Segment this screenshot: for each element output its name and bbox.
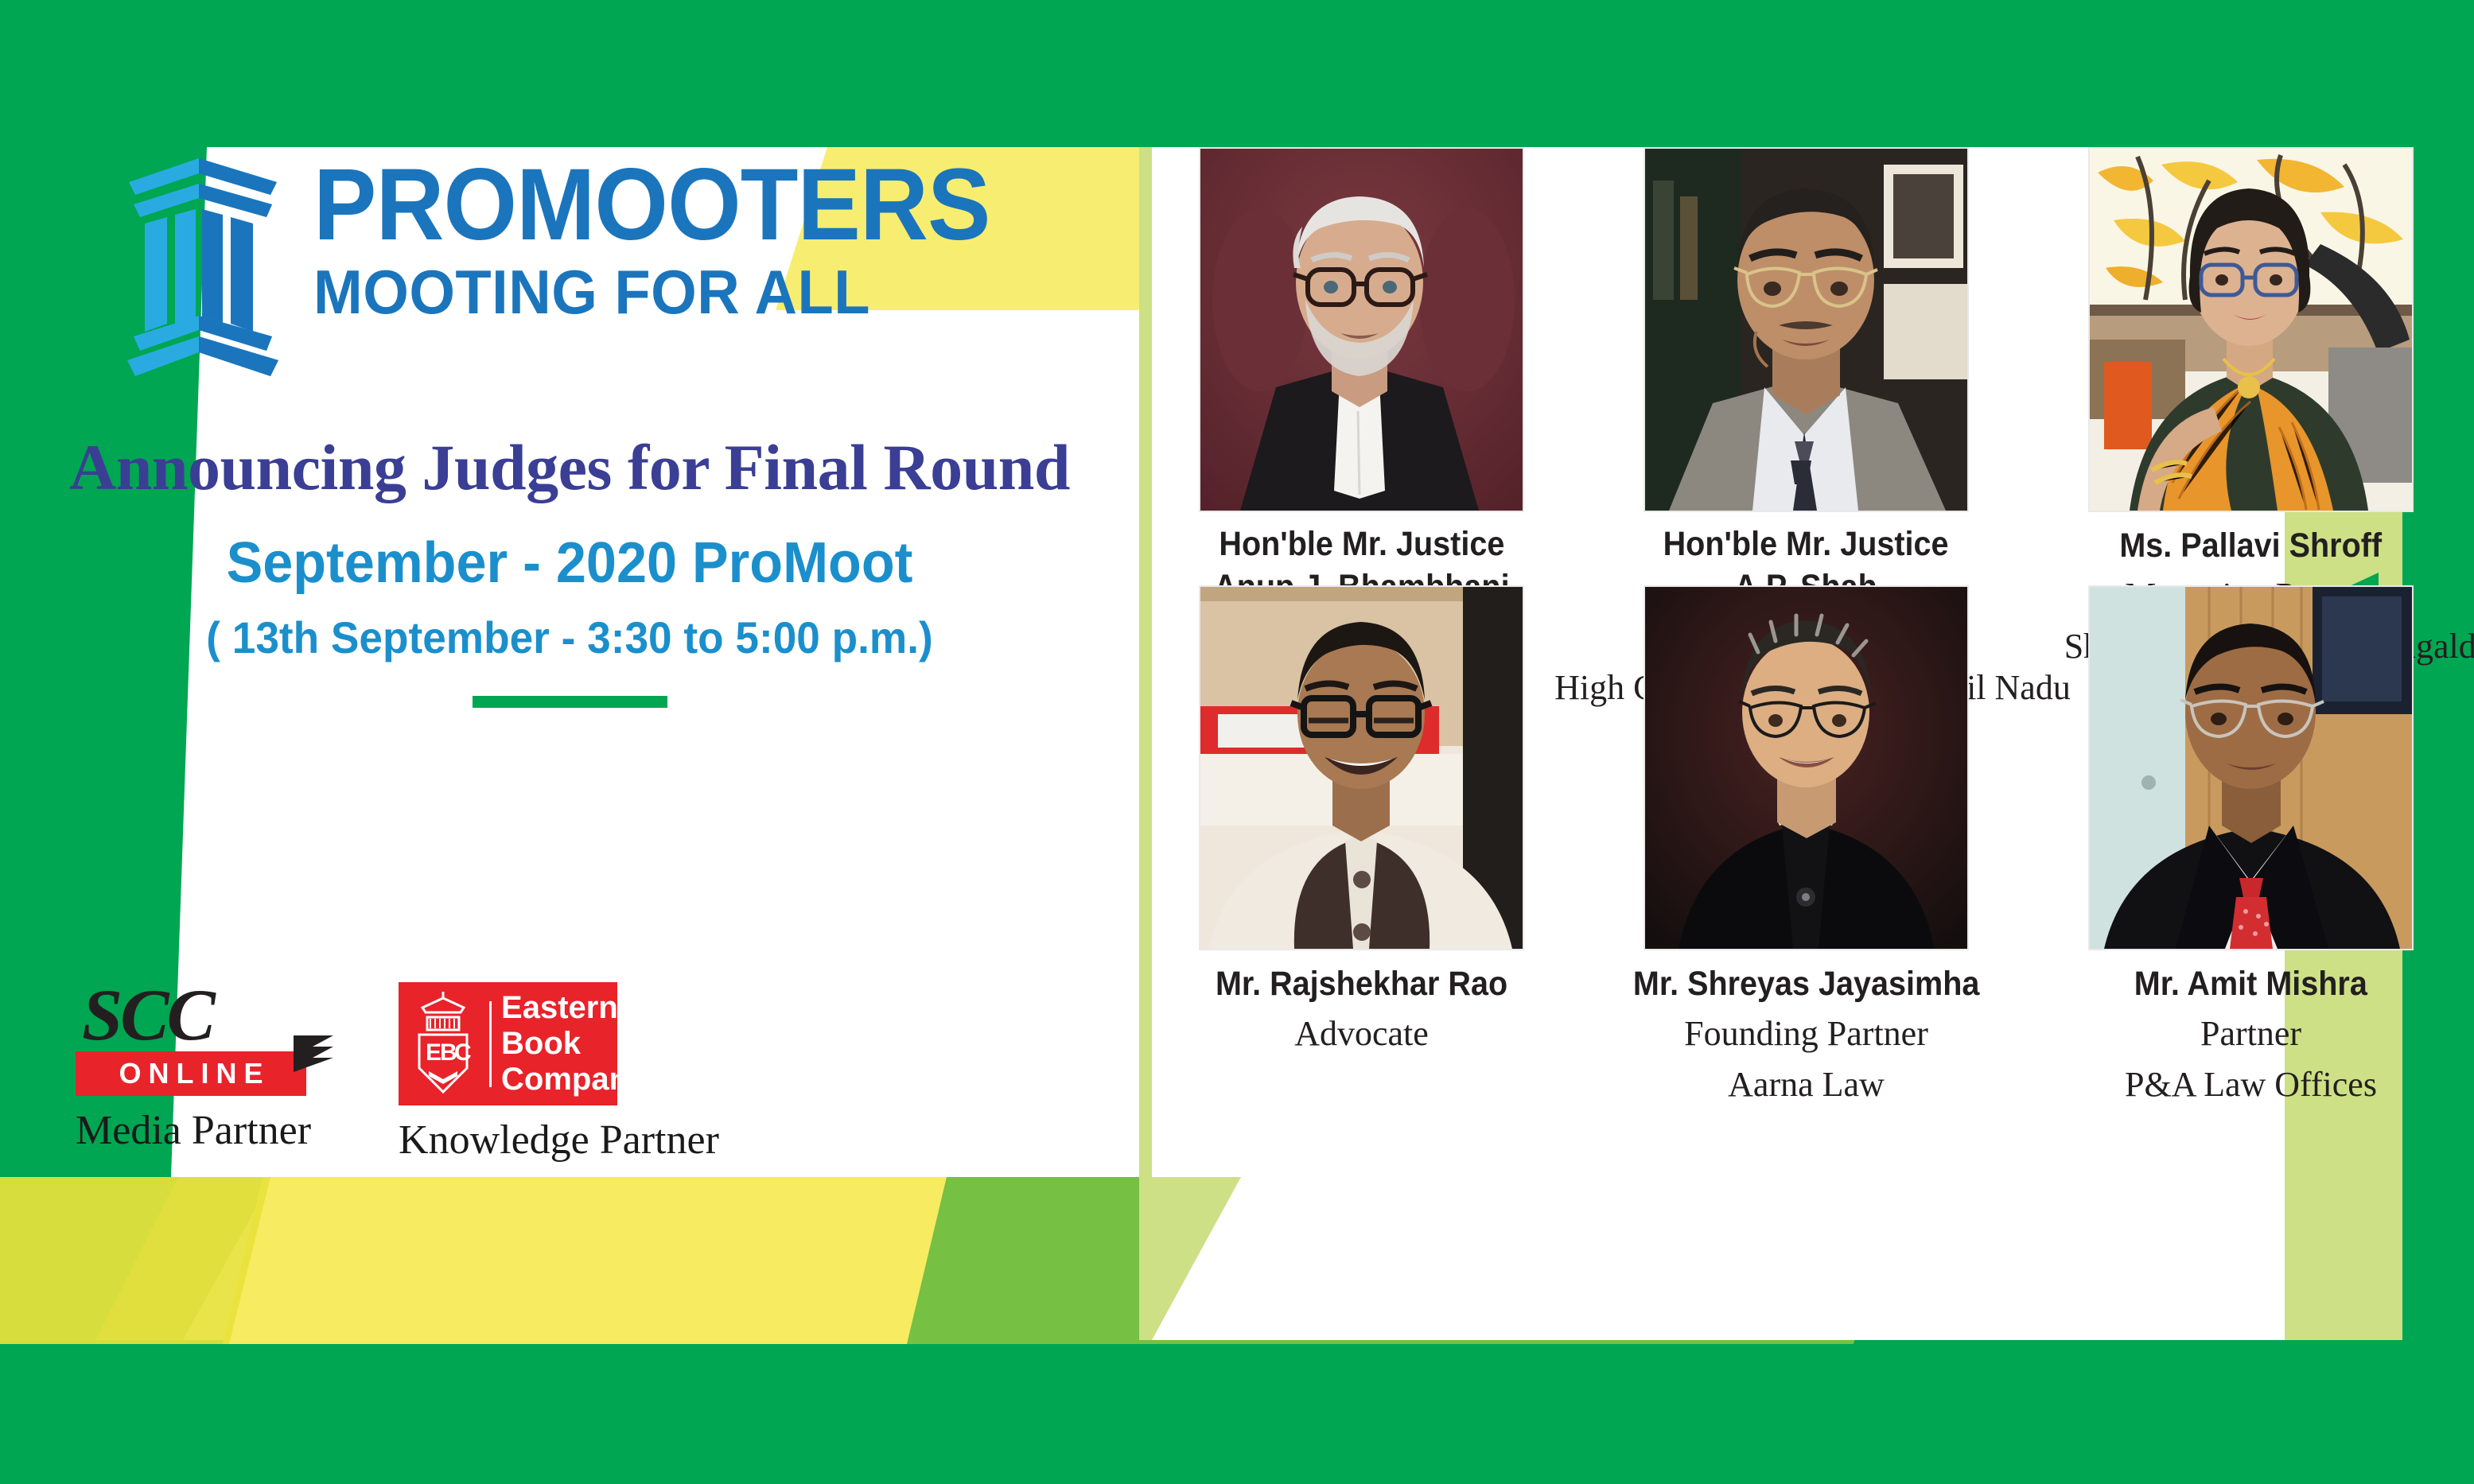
photo-anup-j-bhambhani (1199, 147, 1524, 512)
scc-flag-icon (292, 1034, 335, 1096)
judge-card: Mr. Shreyas Jayasimha Founding Partner A… (1584, 585, 2029, 1108)
judge-name: Mr. Shreyas Jayasimha (1633, 963, 1979, 1006)
announcement-title: Announcing Judges for Final Round (0, 433, 1139, 502)
ebc-line-2: Book (501, 1026, 646, 1062)
knowledge-partner-caption: Knowledge Partner (399, 1117, 719, 1164)
judge-fullname: Mr. Rajshekhar Rao (1216, 963, 1507, 1006)
judge-role-1: Partner (2200, 1011, 2301, 1057)
photo-rajshekhar-rao (1199, 585, 1524, 950)
photo-amit-mishra (2088, 585, 2414, 950)
ebc-line-1: Eastern (501, 990, 646, 1026)
judge-role-2: P&A Law Offices (2125, 1062, 2377, 1108)
partners-row: SCC ONLINE Media Partner (76, 982, 719, 1164)
bottom-yellow-band (223, 1177, 978, 1344)
judge-fullname: Mr. Amit Mishra (2134, 963, 2367, 1006)
judge-fullname: Mr. Shreyas Jayasimha (1633, 963, 1979, 1006)
judges-panel: Hon'ble Mr. Justice Anup J. Bhambhani Hi… (1139, 147, 2474, 1340)
photo-a-p-shah (1643, 147, 1969, 512)
partner-knowledge: E B C Eastern Book Company Knowledge Par… (399, 982, 719, 1164)
event-name: September - 2020 ProMoot (29, 534, 1111, 594)
ebc-divider (489, 1001, 492, 1087)
event-schedule: ( 13th September - 3:30 to 5:00 p.m.) (29, 615, 1111, 662)
photo-shreyas-jayasimha (1643, 585, 1969, 950)
judge-role-1: Founding Partner (1684, 1011, 1928, 1057)
judge-card: Mr. Amit Mishra Partner P&A Law Offices (2029, 585, 2473, 1108)
ebc-line-3: Company (501, 1062, 646, 1097)
ebc-emblem-icon: E B C (399, 982, 488, 1105)
headline-block: Announcing Judges for Final Round Septem… (0, 433, 1139, 708)
brand-tagline: MOOTING FOR ALL (313, 260, 1005, 325)
svg-text:C: C (454, 1039, 472, 1066)
brand-lockup: PROMOOTERS MOOTING FOR ALL (119, 147, 1041, 386)
scc-online-logo: SCC ONLINE (76, 982, 306, 1096)
judge-card: Mr. Rajshekhar Rao Advocate (1139, 585, 1584, 1108)
eastern-book-company-logo: E B C Eastern Book Company (399, 982, 617, 1105)
brand-title: PROMOOTERS (313, 158, 990, 252)
scc-wordmark: SCC (76, 982, 306, 1048)
pillar-column-icon (119, 147, 286, 386)
partner-media: SCC ONLINE Media Partner (76, 982, 311, 1154)
divider-rule (473, 696, 667, 708)
judge-fullname: Ms. Pallavi Shroff (2120, 525, 2383, 568)
scc-online-bar: ONLINE (76, 1051, 306, 1096)
poster-canvas: PROMOOTERS MOOTING FOR ALL Announcing Ju… (0, 0, 2474, 1484)
judge-name: Mr. Amit Mishra (2134, 963, 2367, 1006)
judge-honorific: Hon'ble Mr. Justice (1214, 523, 1509, 566)
media-partner-caption: Media Partner (76, 1107, 311, 1154)
judges-row-bottom: Mr. Rajshekhar Rao Advocate (1139, 585, 2474, 1108)
scc-online-label: ONLINE (111, 1057, 270, 1090)
bottom-yellow-band-left (0, 1177, 270, 1344)
ebc-wordmark: Eastern Book Company (501, 990, 646, 1098)
judge-name: Ms. Pallavi Shroff (2120, 525, 2383, 568)
photo-pallavi-shroff (2088, 147, 2414, 512)
judge-role-2: Aarna Law (1728, 1062, 1885, 1108)
judge-honorific: Hon'ble Mr. Justice (1663, 523, 1949, 566)
svg-text:E: E (426, 1039, 442, 1066)
judge-name: Mr. Rajshekhar Rao (1216, 963, 1507, 1006)
judge-role-1: Advocate (1294, 1011, 1429, 1057)
